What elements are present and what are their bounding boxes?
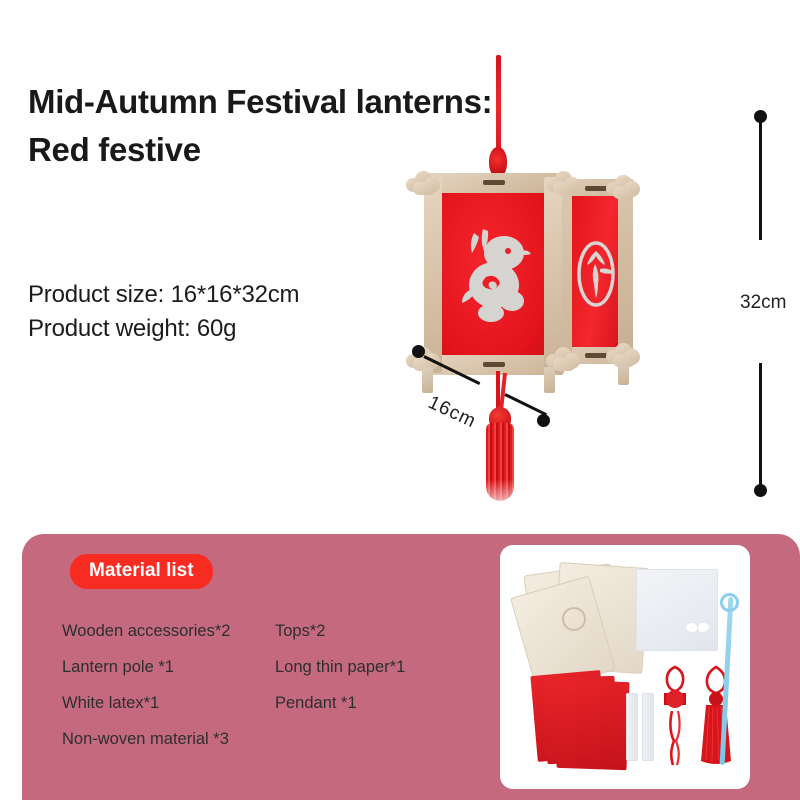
white-strip-2 bbox=[642, 693, 654, 761]
cloud-ornament-top-left bbox=[406, 171, 440, 197]
list-item: Tops*2 bbox=[275, 622, 405, 641]
tassel-fringe bbox=[486, 423, 514, 501]
dimension-dot-bottom bbox=[754, 484, 767, 497]
red-sheet-3 bbox=[556, 680, 629, 770]
red-tassel-component bbox=[696, 663, 736, 771]
wooden-board-hole bbox=[562, 607, 586, 631]
product-weight-text: Product weight: 60g bbox=[28, 315, 236, 343]
product-size-text: Product size: 16*16*32cm bbox=[28, 281, 299, 309]
lantern-frame bbox=[400, 171, 630, 379]
dimension-line-lower bbox=[759, 363, 762, 485]
lantern-side-panel bbox=[568, 195, 624, 355]
pole-hook bbox=[720, 593, 739, 612]
list-item: Long thin paper*1 bbox=[275, 658, 405, 677]
list-item: Wooden accessories*2 bbox=[62, 622, 230, 641]
rabbit-cutout bbox=[460, 227, 532, 325]
material-list-column-1: Wooden accessories*2 Lantern pole *1 Whi… bbox=[62, 622, 230, 766]
list-item: Pendant *1 bbox=[275, 694, 405, 713]
lantern-leg-far bbox=[618, 359, 629, 385]
frame-slot-bottom bbox=[483, 362, 505, 367]
frame-post-right bbox=[544, 177, 562, 373]
infographic-canvas: Mid-Autumn Festival lanterns: Red festiv… bbox=[0, 0, 800, 800]
paper-cutout-piece-1 bbox=[686, 623, 697, 632]
material-list-column-2: Tops*2 Long thin paper*1 Pendant *1 bbox=[275, 622, 405, 730]
list-item: Non-woven material *3 bbox=[62, 730, 230, 749]
dimension-line-upper bbox=[759, 118, 762, 240]
material-list-panel: Material list Wooden accessories*2 Lante… bbox=[22, 534, 800, 800]
frame-post-far bbox=[618, 185, 633, 361]
lantern-leg-left bbox=[422, 367, 433, 393]
cloud-ornament-top-far bbox=[606, 175, 640, 201]
lantern-product-image bbox=[400, 55, 700, 525]
kit-contents-photo bbox=[500, 545, 750, 789]
red-knot-pendant bbox=[658, 663, 692, 775]
frame-slot-bottom-side bbox=[585, 353, 607, 358]
lantern-leg-right bbox=[544, 367, 555, 393]
frame-post-left bbox=[424, 177, 442, 373]
width-dimension-dot-right bbox=[537, 414, 550, 427]
cloud-ornament-top-right bbox=[546, 171, 580, 197]
list-item: Lantern pole *1 bbox=[62, 658, 230, 677]
white-strip-1 bbox=[626, 693, 638, 761]
height-dimension-label: 32cm bbox=[740, 292, 786, 314]
material-list-badge: Material list bbox=[70, 554, 213, 589]
lantern-front-panel bbox=[438, 189, 548, 361]
list-item: White latex*1 bbox=[62, 694, 230, 713]
frame-slot-top bbox=[483, 180, 505, 185]
circular-emblem-cutout bbox=[576, 231, 616, 317]
white-paper-sheet bbox=[636, 569, 718, 651]
frame-slot-top-side bbox=[585, 186, 607, 191]
